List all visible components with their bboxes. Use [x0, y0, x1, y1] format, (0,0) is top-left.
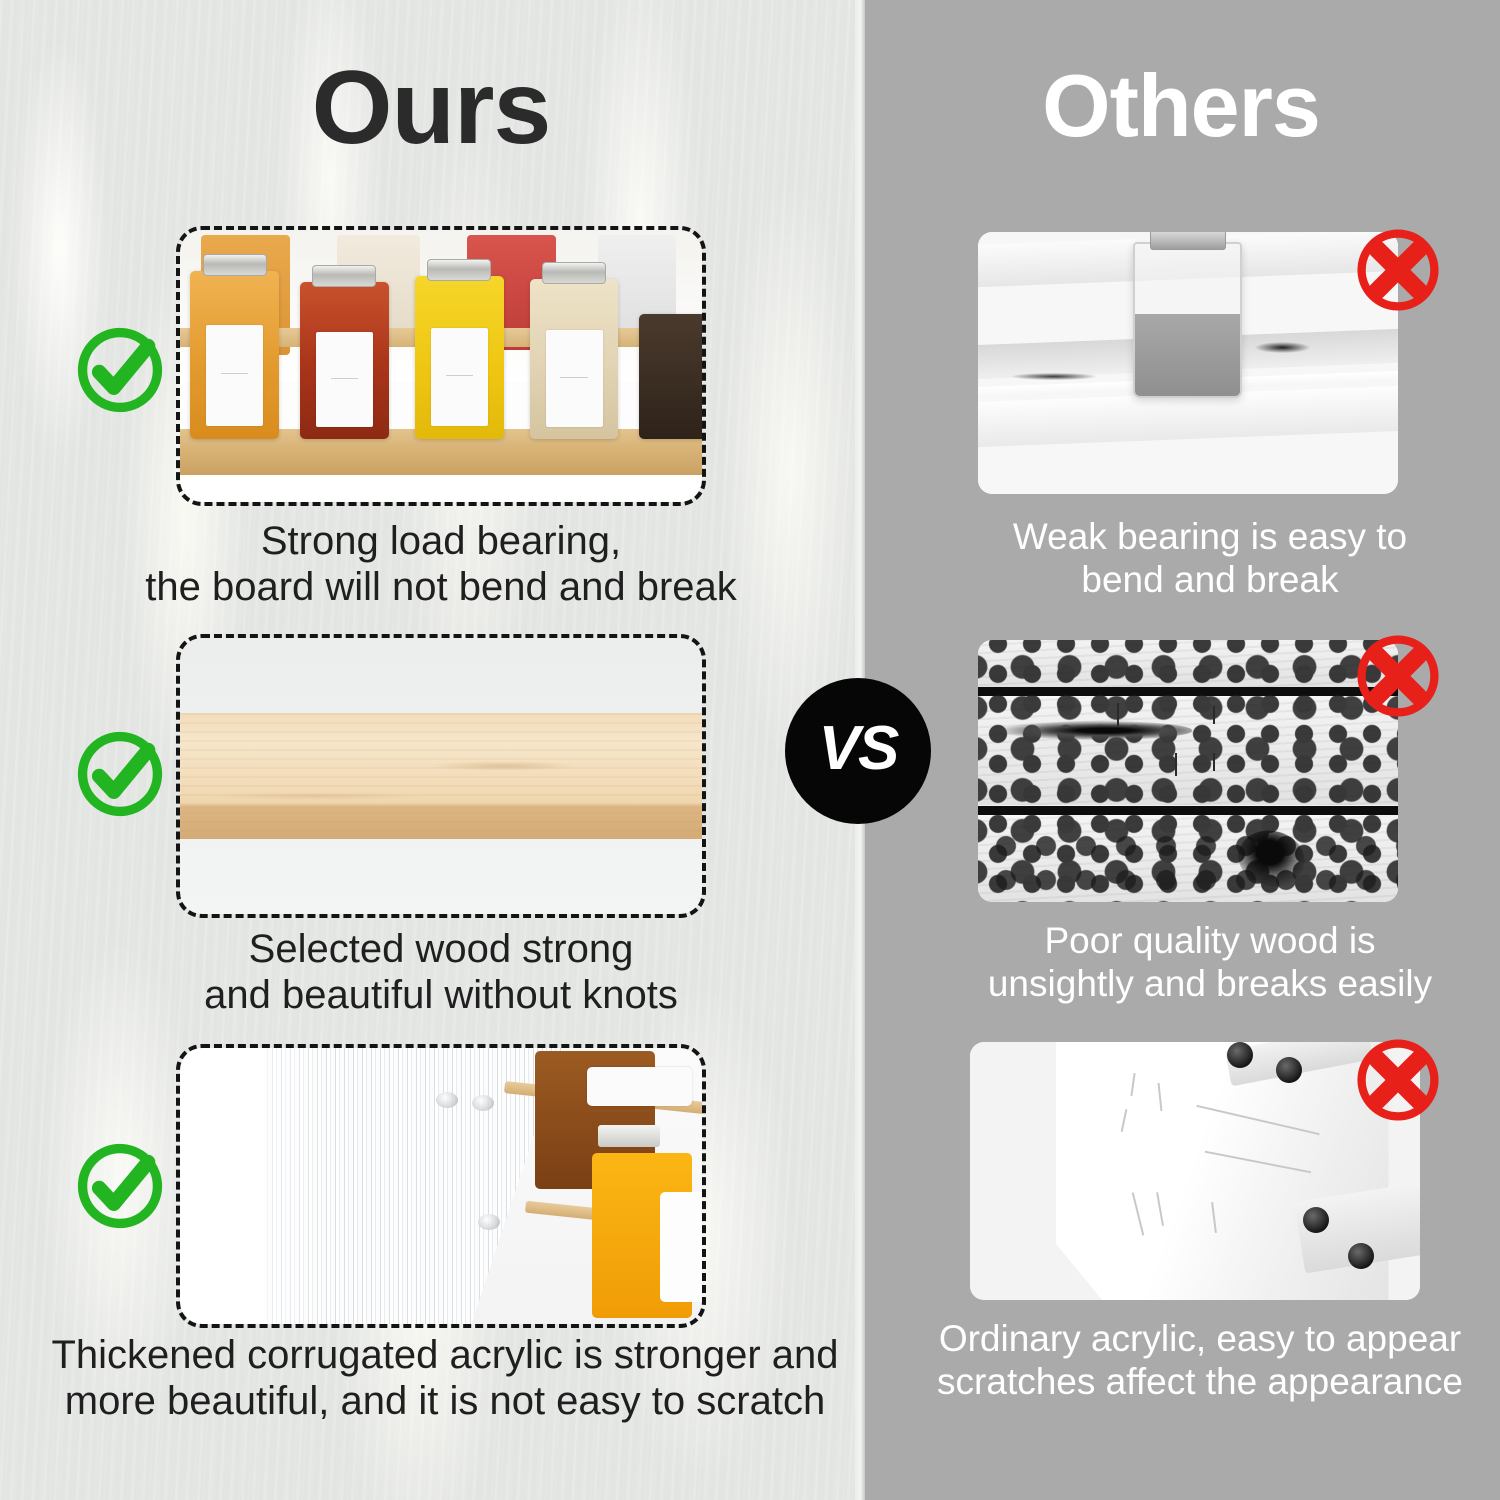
ours-photo-1: [176, 226, 706, 506]
comparison-infographic: Ours Others: [0, 0, 1500, 1500]
corrugated-acrylic-image: [180, 1048, 702, 1324]
vs-badge: VS: [785, 678, 931, 824]
red-x-icon: [1346, 1028, 1450, 1132]
ours-caption-1: Strong load bearing, the board will not …: [86, 518, 796, 610]
ours-caption-3: Thickened corrugated acrylic is stronger…: [50, 1332, 840, 1424]
bending-shelf-image: [978, 232, 1398, 494]
ours-photo-3: [176, 1044, 706, 1328]
green-check-icon: [68, 1134, 172, 1238]
clean-wood-board-image: [180, 638, 702, 914]
others-photo-2: [978, 640, 1398, 902]
red-x-icon: [1346, 624, 1450, 728]
ours-photo-2: [176, 634, 706, 918]
green-check-icon: [68, 722, 172, 826]
ours-caption-2: Selected wood strong and beautiful witho…: [86, 926, 796, 1018]
vs-label: VS: [819, 718, 898, 780]
green-check-icon: [68, 318, 172, 422]
knotty-wood-image: [978, 640, 1398, 902]
others-caption-2: Poor quality wood is unsightly and break…: [930, 920, 1490, 1005]
others-title: Others: [862, 62, 1500, 150]
others-caption-3: Ordinary acrylic, easy to appear scratch…: [905, 1318, 1495, 1403]
ours-title: Ours: [0, 56, 862, 160]
red-x-icon: [1346, 218, 1450, 322]
jars-on-shelf-image: [180, 230, 702, 502]
others-caption-1: Weak bearing is easy to bend and break: [930, 516, 1490, 601]
others-photo-1: [978, 232, 1398, 494]
